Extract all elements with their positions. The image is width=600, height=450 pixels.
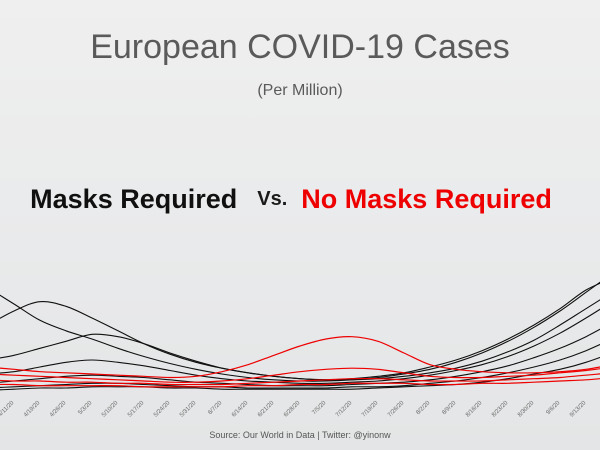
x-axis-tick-label: 7/19/20: [361, 400, 380, 419]
source-note: Source: Our World in Data | Twitter: @yi…: [0, 430, 600, 440]
x-axis-tick-label: 9/6/20: [545, 400, 562, 417]
x-axis-tick-label: 8/9/20: [441, 400, 458, 417]
x-axis-tick-label: 6/7/20: [207, 400, 224, 417]
x-axis-tick-label: 6/28/20: [283, 400, 302, 419]
x-axis-tick-label: 7/26/20: [387, 400, 406, 419]
page-subtitle: (Per Million): [0, 82, 600, 100]
chart: 4/11/204/19/204/26/205/3/205/10/205/17/2…: [0, 255, 600, 450]
x-axis-tick-label: 5/17/20: [127, 400, 146, 419]
page-title: European COVID-19 Cases: [0, 28, 600, 67]
x-axis-tick-label: 7/12/20: [335, 400, 354, 419]
x-axis-tick-label: 7/5/20: [311, 400, 328, 417]
legend-no-masks-required: No Masks Required: [301, 184, 552, 215]
x-axis-tick-label: 4/19/20: [23, 400, 42, 419]
x-axis-tick-label: 8/2/20: [415, 400, 432, 417]
x-axis-tick-label: 8/23/20: [491, 400, 510, 419]
x-axis-tick-label: 5/3/20: [77, 400, 94, 417]
series-line: [0, 278, 600, 380]
x-axis-tick-label: 8/16/20: [465, 400, 484, 419]
legend: Masks Required Vs. No Masks Required: [0, 182, 600, 216]
series-line: [0, 292, 600, 380]
x-axis-tick-label: 5/24/20: [153, 400, 172, 419]
x-axis-tick-label: 4/26/20: [49, 400, 68, 419]
line-chart-svg: 4/11/204/19/204/26/205/3/205/10/205/17/2…: [0, 255, 600, 450]
x-axis-tick-label: 4/11/20: [0, 400, 16, 419]
x-axis-tick-label: 9/13/20: [569, 400, 588, 419]
slide: European COVID-19 Cases (Per Million) Ma…: [0, 0, 600, 450]
x-axis-tick-label: 5/31/20: [179, 400, 198, 419]
legend-vs: Vs.: [257, 188, 287, 211]
legend-masks-required: Masks Required: [30, 184, 237, 215]
x-axis-tick-label: 6/21/20: [257, 400, 276, 419]
x-axis-tick-label: 6/14/20: [231, 400, 250, 419]
x-axis-tick-label: 5/10/20: [101, 400, 120, 419]
x-axis-tick-label: 8/30/20: [517, 400, 536, 419]
